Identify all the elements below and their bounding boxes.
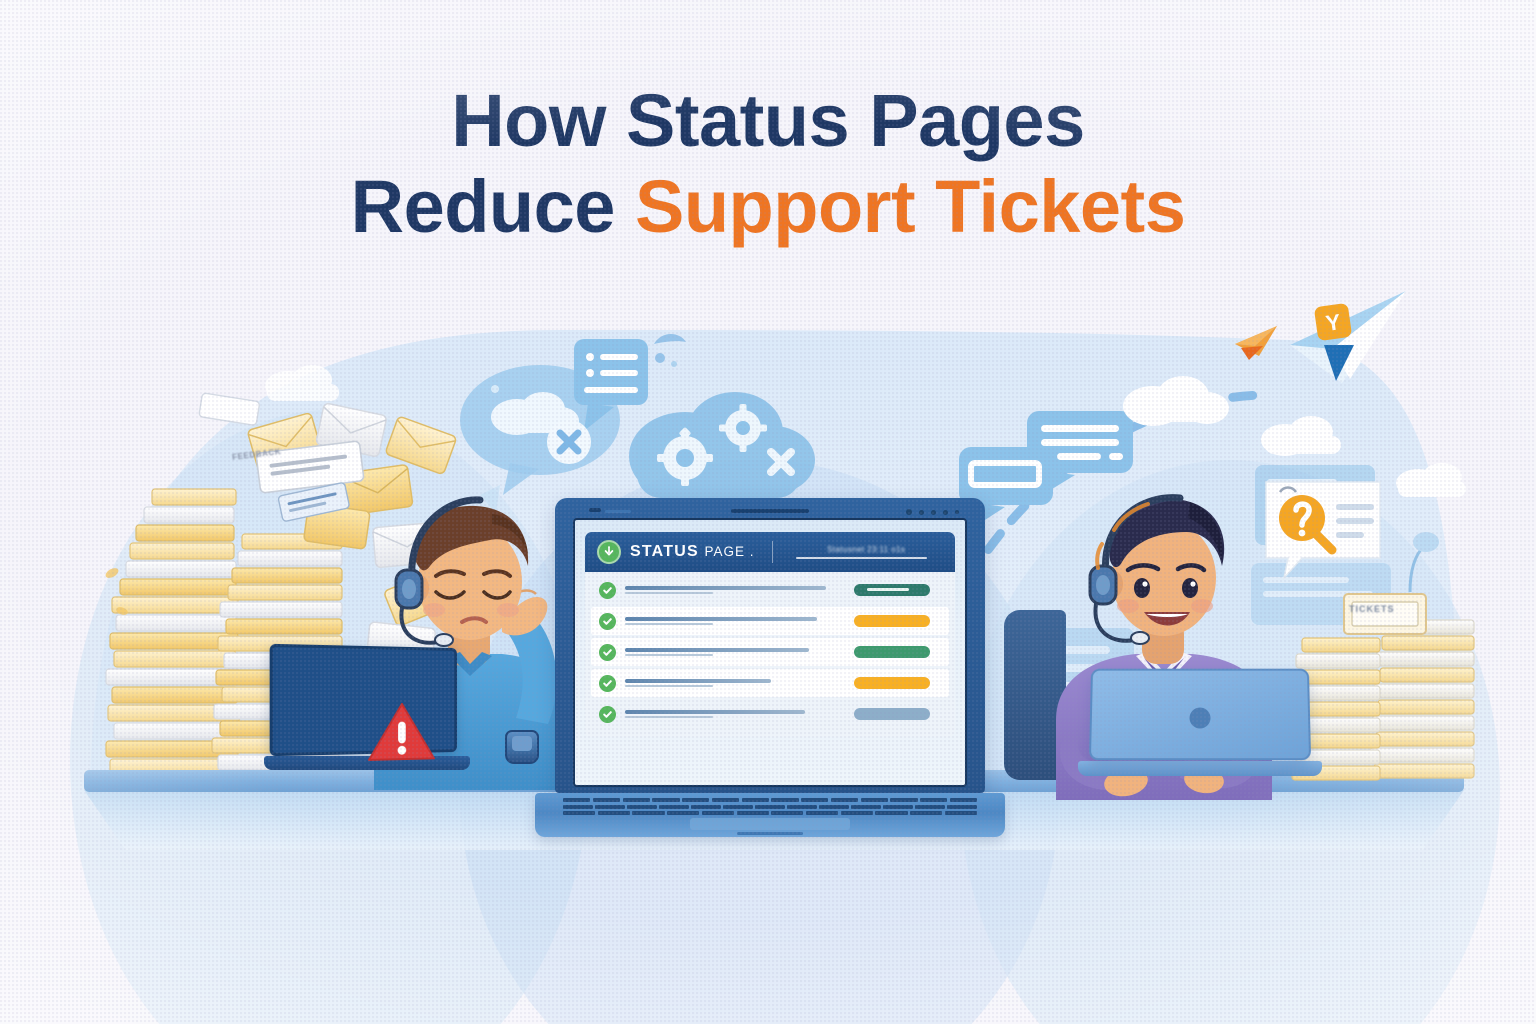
paper-plane-small-icon bbox=[1233, 322, 1293, 364]
bezel-dots-icon bbox=[906, 509, 959, 515]
keyboard[interactable] bbox=[563, 798, 977, 820]
laptop-base bbox=[535, 793, 1005, 837]
row-text-bars bbox=[625, 617, 834, 626]
cloud-icon bbox=[1115, 368, 1235, 430]
right-laptop-base bbox=[1078, 761, 1322, 776]
status-page-rows bbox=[585, 572, 955, 737]
title-line-1: How Status Pages bbox=[0, 78, 1536, 164]
status-page-header: STATUS PAGE . Statusnet 23:11 o1s bbox=[585, 532, 955, 572]
row-status-cell bbox=[843, 708, 941, 720]
title-line-2-accent: Support Tickets bbox=[635, 165, 1185, 248]
brand-strong: STATUS bbox=[630, 543, 699, 560]
title-line-2: Reduce Support Tickets bbox=[0, 164, 1536, 250]
bezel-slot-icon bbox=[731, 509, 809, 513]
status-badge bbox=[854, 646, 930, 658]
bezel-mark-icon bbox=[589, 508, 601, 512]
computer-mouse bbox=[505, 730, 539, 764]
status-badge bbox=[854, 584, 930, 596]
title-line-2-plain: Reduce bbox=[351, 165, 635, 248]
laptop-bezel bbox=[555, 504, 985, 518]
cloud-icon bbox=[1390, 455, 1476, 501]
row-status-cell bbox=[843, 646, 941, 658]
illustration-canvas: Y bbox=[0, 0, 1536, 1024]
cloud-icon bbox=[1255, 408, 1351, 460]
status-badge bbox=[854, 615, 930, 627]
check-circle-icon bbox=[599, 613, 616, 630]
trackpad[interactable] bbox=[690, 818, 850, 830]
row-status-cell bbox=[843, 615, 941, 627]
row-text-bars bbox=[625, 586, 834, 595]
status-meta-underline bbox=[796, 557, 928, 559]
table-row[interactable] bbox=[591, 669, 949, 697]
right-laptop-screen bbox=[1089, 669, 1311, 761]
row-text-bars bbox=[625, 679, 834, 688]
table-row[interactable] bbox=[591, 576, 949, 604]
status-page-laptop: STATUS PAGE . Statusnet 23:11 o1s bbox=[555, 498, 985, 837]
check-circle-icon bbox=[599, 675, 616, 692]
status-meta-text: Statusnet 23:11 o1s bbox=[790, 545, 944, 554]
ticket-stack bbox=[1288, 588, 1484, 784]
ticket-stack-label: TICKETS bbox=[1349, 604, 1395, 614]
status-badge bbox=[854, 677, 930, 689]
sparkle-bits-icon bbox=[640, 320, 700, 380]
status-page-screen: STATUS PAGE . Statusnet 23:11 o1s bbox=[573, 518, 967, 787]
page-title: How Status Pages Reduce Support Tickets bbox=[0, 78, 1536, 250]
check-circle-icon bbox=[599, 644, 616, 661]
row-status-cell bbox=[843, 584, 941, 596]
left-laptop bbox=[272, 646, 462, 770]
download-circle-icon bbox=[597, 540, 621, 564]
row-text-bars bbox=[625, 710, 834, 719]
table-row[interactable] bbox=[591, 700, 949, 728]
table-row[interactable] bbox=[591, 638, 949, 666]
right-laptop bbox=[1090, 668, 1310, 776]
row-text-bars bbox=[625, 648, 834, 657]
header-divider bbox=[772, 541, 773, 563]
bezel-line-icon bbox=[605, 510, 631, 513]
status-badge bbox=[854, 708, 930, 720]
laptop-lid: STATUS PAGE . Statusnet 23:11 o1s bbox=[555, 498, 985, 793]
check-circle-icon bbox=[599, 582, 616, 599]
status-page-meta: Statusnet 23:11 o1s bbox=[790, 545, 944, 559]
base-notch bbox=[737, 832, 803, 835]
left-laptop-screen bbox=[270, 644, 457, 756]
paper-plane-icon: Y bbox=[1280, 283, 1415, 388]
status-page-brand: STATUS PAGE . bbox=[630, 543, 755, 561]
row-status-cell bbox=[843, 677, 941, 689]
check-circle-icon bbox=[599, 706, 616, 723]
table-row[interactable] bbox=[591, 607, 949, 635]
brand-light: PAGE . bbox=[704, 544, 754, 559]
